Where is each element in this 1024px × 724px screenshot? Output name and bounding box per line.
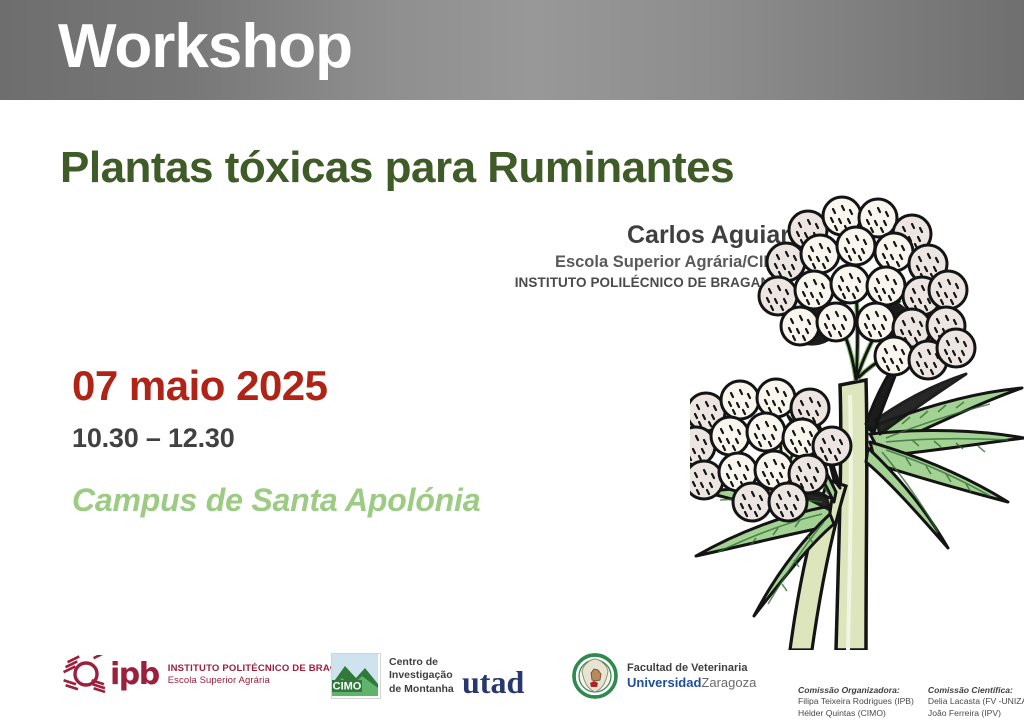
leaf-right [866,352,1024,548]
cimo-line1: Centro de [389,656,454,669]
unizar-universidad: Universidad [627,675,701,690]
logo-unizar: Facultad de Veterinaria UniversidadZarag… [572,653,756,699]
event-time: 10.30 – 12.30 [72,423,235,454]
logo-cimo: CIMO Centro de Investigação de Montanha [331,653,454,699]
event-venue: Campus de Santa Apolónia [72,482,480,519]
cimo-line2: Investigação [389,669,454,682]
svg-text:CIMO: CIMO [333,681,362,693]
unizar-text: Facultad de Veterinaria UniversidadZarag… [627,661,756,691]
unizar-zaragoza: Zaragoza [701,675,756,690]
cimo-line3: de Montanha [389,683,454,696]
ipb-wordmark: ipb [110,660,159,690]
committee-organizing-heading: Comissão Organizadora: [798,685,914,696]
logo-ipb: ipb INSTITUTO POLITÉCNICO DE BRAGANÇA Es… [62,655,366,695]
committee-organizing-member-1: Hélder Quintas (CIMO) [798,708,914,719]
ipb-mark-icon [62,655,108,695]
header-band: Workshop [0,0,1024,100]
committee-scientific-heading: Comissão Científica: [928,685,1024,696]
plant-illustration [690,180,1024,650]
header-title: Workshop [58,13,352,81]
poster-canvas: Workshop Plantas tóxicas para Ruminantes… [0,0,1024,724]
utad-wordmark: utad [462,666,524,698]
page-title: Plantas tóxicas para Ruminantes [60,143,734,193]
unizar-crest-icon [572,653,618,699]
committee-scientific: Comissão Científica: Delia Lacasta (FV -… [928,685,1024,719]
toxic-plant-icon [690,180,1024,650]
unizar-line2: UniversidadZaragoza [627,675,756,691]
committee-scientific-member-1: João Ferreira (IPV) [928,708,1024,719]
committees-block: Comissão Organizadora: Filipa Teixeira R… [798,685,1024,719]
cimo-text: Centro de Investigação de Montanha [389,656,454,695]
logo-utad: utad [462,666,524,698]
cimo-mark-icon: CIMO [331,653,381,699]
committee-organizing: Comissão Organizadora: Filipa Teixeira R… [798,685,914,719]
event-date: 07 maio 2025 [72,362,328,410]
committee-scientific-member-0: Delia Lacasta (FV -UNIZAR) [928,696,1024,707]
committee-organizing-member-0: Filipa Teixeira Rodrigues (IPB) [798,696,914,707]
unizar-line1: Facultad de Veterinaria [627,661,756,675]
